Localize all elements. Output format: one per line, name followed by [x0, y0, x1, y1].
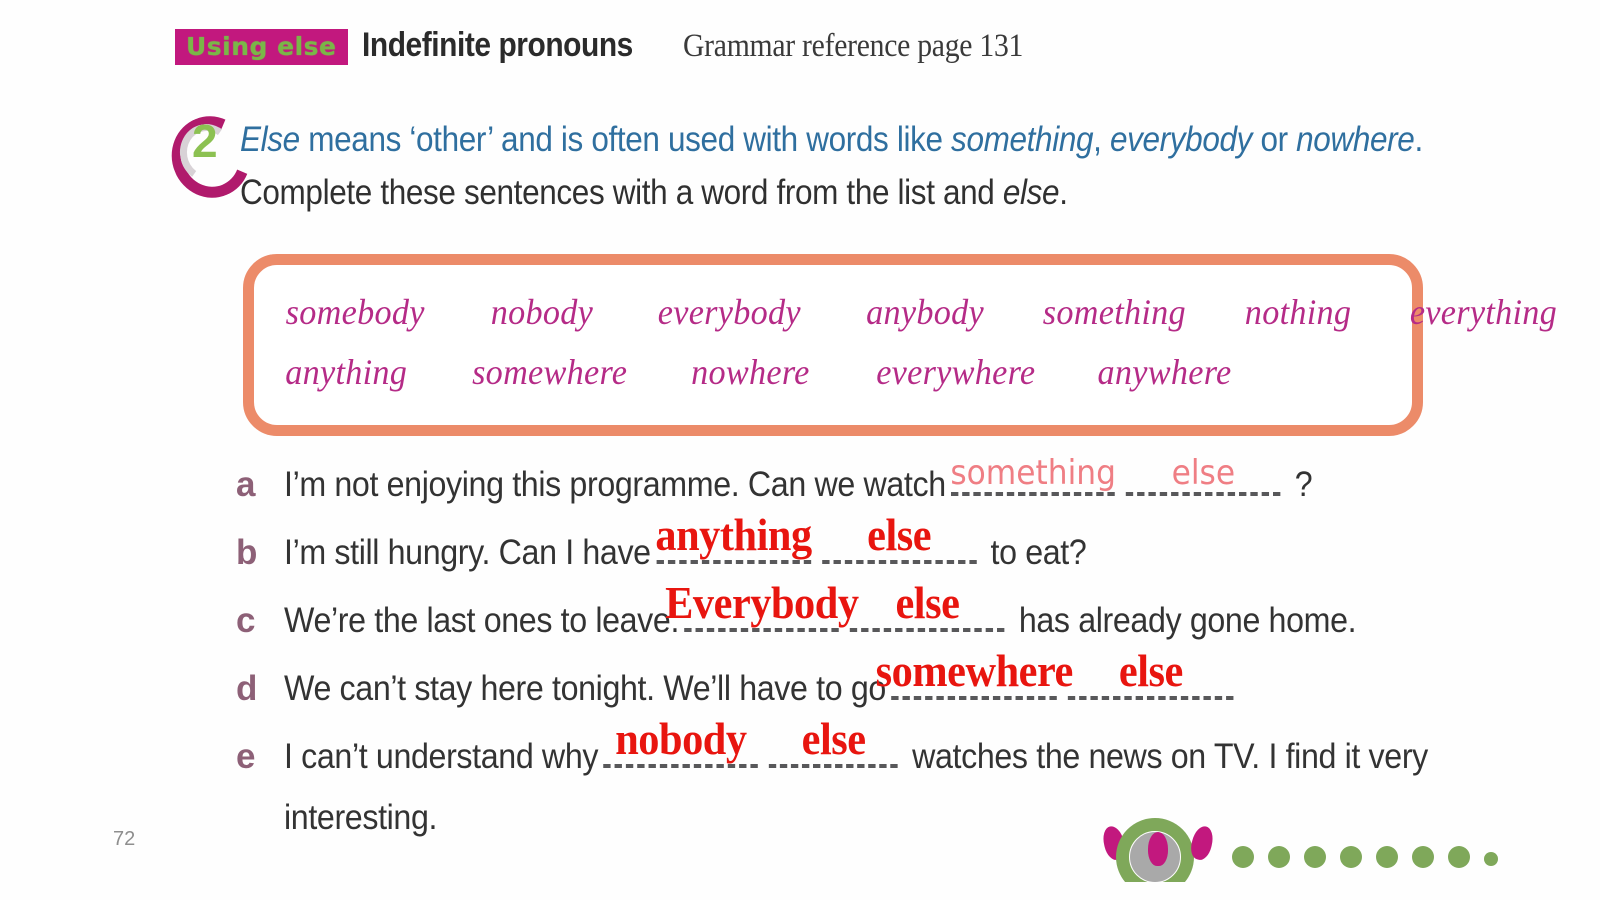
- question-row: dWe can’t stay here tonight. We’ll have …: [236, 662, 1576, 724]
- rule-example-1: something: [951, 120, 1093, 159]
- answer-text: nobody: [615, 716, 746, 762]
- word-bank-item[interactable]: everywhere: [877, 351, 1036, 393]
- instruction-keyword: else: [1003, 173, 1059, 212]
- answer-blank[interactable]: else: [850, 594, 1005, 632]
- word-bank-item[interactable]: everything: [1410, 291, 1557, 333]
- rule-sep-2: or: [1252, 120, 1296, 159]
- answer-blank[interactable]: somewhere: [891, 662, 1057, 700]
- question-prompt-text: I’m not enjoying this programme. Can we …: [284, 465, 946, 504]
- answer-blank[interactable]: else: [822, 526, 977, 564]
- question-suffix-text: has already gone home.: [1010, 601, 1356, 640]
- word-bank-item[interactable]: somebody: [286, 291, 425, 333]
- word-bank-item[interactable]: anything: [285, 351, 407, 393]
- decor-dot-icon: [1376, 846, 1398, 868]
- instruction-end: .: [1059, 173, 1067, 212]
- rule-example-2: everybody: [1110, 120, 1252, 159]
- question-suffix-text: to eat?: [982, 533, 1086, 572]
- question-body: I’m not enjoying this programme. Can we …: [284, 458, 1312, 505]
- rule-end: .: [1414, 120, 1422, 159]
- question-suffix-text: watches the news on TV. I find it very: [904, 737, 1428, 776]
- answer-blank[interactable]: nobody: [604, 730, 759, 768]
- word-bank-box: somebodynobodyeverybodyanybodysomethingn…: [243, 254, 1423, 436]
- question-prompt-text: We can’t stay here tonight. We’ll have t…: [284, 669, 886, 708]
- decor-dot-icon: [1448, 846, 1470, 868]
- decor-dot-icon: [1484, 852, 1498, 866]
- answer-blank[interactable]: else: [769, 730, 898, 768]
- exercise-number: 2: [192, 118, 218, 164]
- petal-icon: [1188, 824, 1216, 862]
- word-bank-item[interactable]: anybody: [866, 291, 984, 333]
- decor-dot-icon: [1268, 846, 1290, 868]
- word-bank-item[interactable]: everybody: [658, 291, 801, 333]
- worksheet-page: Using else Indefinite pronouns Grammar r…: [0, 0, 1600, 900]
- question-prompt-text: I’m still hungry. Can I have: [284, 533, 651, 572]
- decor-dot-icon: [1304, 846, 1326, 868]
- answer-blank[interactable]: something: [951, 458, 1115, 496]
- rule-mid-text: means ‘other’ and is often used with wor…: [300, 120, 951, 159]
- exercise-rule-line: Else means ‘other’ and is often used wit…: [240, 120, 1302, 160]
- answer-blank[interactable]: else: [1068, 662, 1234, 700]
- question-letter: c: [236, 601, 284, 641]
- question-letter: d: [236, 669, 284, 709]
- question-body: We can’t stay here tonight. We’ll have t…: [284, 662, 1239, 709]
- rule-example-3: nowhere: [1296, 120, 1414, 159]
- answer-text: else: [1119, 648, 1183, 694]
- header: Using else Indefinite pronouns Grammar r…: [175, 26, 1061, 65]
- answer-text: else: [802, 716, 866, 762]
- question-prompt-text: I can’t understand why: [284, 737, 598, 776]
- question-letter: e: [236, 737, 284, 777]
- word-bank-row-1: somebodynobodyeverybodyanybodysomethingn…: [254, 265, 1412, 333]
- exercise-intro: Else means ‘other’ and is often used wit…: [240, 120, 1420, 213]
- page-title: Indefinite pronouns: [362, 26, 633, 65]
- exercise-instruction-line: Complete these sentences with a word fro…: [240, 173, 1302, 213]
- word-bank-row-2: anythingsomewherenowhereeverywhereanywhe…: [254, 333, 1412, 393]
- question-row: eI can’t understand whynobodyelse watche…: [236, 730, 1576, 792]
- word-bank-item[interactable]: nowhere: [691, 351, 810, 393]
- instruction-text: Complete these sentences with a word fro…: [240, 173, 1003, 212]
- question-body: I can’t understand whynobodyelse watches…: [284, 730, 1428, 777]
- question-letter: a: [236, 465, 284, 505]
- decor-dot-icon: [1340, 846, 1362, 868]
- petal-icon: [1148, 832, 1168, 866]
- exercise-number-marker: 2: [172, 108, 230, 190]
- answer-text: something: [950, 456, 1116, 490]
- question-prompt-text: We’re the last ones to leave.: [284, 601, 679, 640]
- answer-text: anything: [655, 512, 811, 558]
- answer-blank[interactable]: else: [1126, 458, 1281, 496]
- grammar-reference: Grammar reference page 131: [683, 28, 1023, 65]
- decor-dot-icon: [1232, 846, 1254, 868]
- answer-text: else: [1172, 456, 1235, 490]
- page-number: 72: [113, 828, 135, 851]
- answer-text: Everybody: [665, 580, 858, 626]
- question-suffix-text: ?: [1286, 465, 1312, 504]
- question-body: I’m still hungry. Can I haveanythingelse…: [284, 526, 1086, 573]
- answer-blank[interactable]: anything: [656, 526, 811, 564]
- answer-text: else: [895, 580, 959, 626]
- word-bank-item[interactable]: anywhere: [1098, 351, 1232, 393]
- rule-keyword: Else: [240, 120, 300, 159]
- question-body: We’re the last ones to leave.Everybodyel…: [284, 594, 1356, 641]
- question-letter: b: [236, 533, 284, 573]
- word-bank-item[interactable]: somewhere: [472, 351, 627, 393]
- word-bank-item[interactable]: something: [1043, 291, 1186, 333]
- answer-blank[interactable]: Everybody: [685, 594, 840, 632]
- section-badge: Using else: [175, 29, 348, 65]
- footer-decoration: [1100, 812, 1520, 882]
- rule-sep-1: ,: [1093, 120, 1110, 159]
- question-list: aI’m not enjoying this programme. Can we…: [236, 458, 1576, 838]
- answer-text: somewhere: [876, 648, 1073, 694]
- answer-text: else: [867, 512, 931, 558]
- word-bank-item[interactable]: nothing: [1244, 291, 1351, 333]
- decor-dot-icon: [1412, 846, 1434, 868]
- word-bank-item[interactable]: nobody: [491, 291, 593, 333]
